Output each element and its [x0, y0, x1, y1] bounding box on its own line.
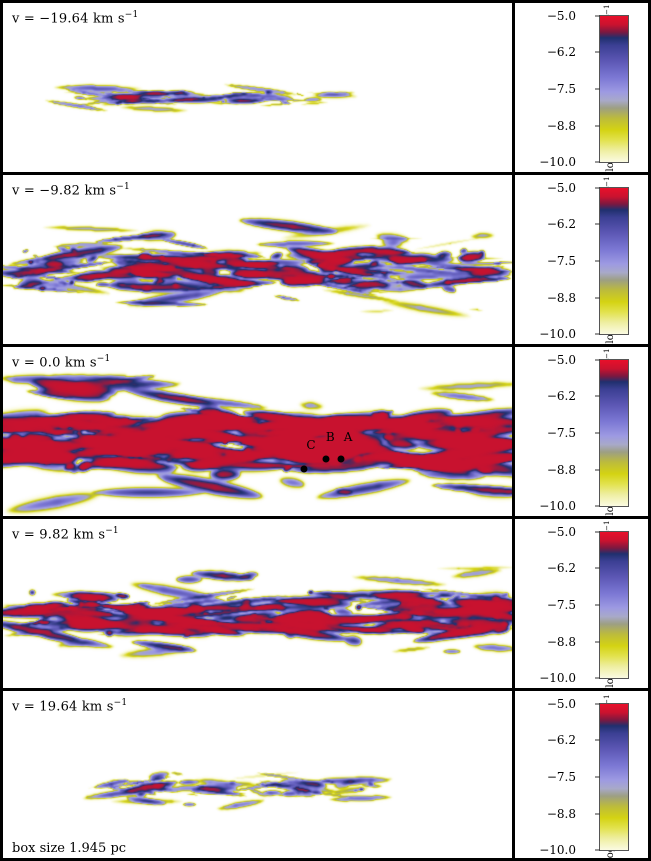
channel-panel-2: v = 0.0 km s−1 C B A log10 I in erg s−1 … — [3, 347, 651, 519]
colorbar-tick-mark — [595, 162, 600, 163]
colorbar-tick-label: −6.2 — [547, 45, 576, 59]
velocity-label-3: v = 9.82 km s−1 — [12, 526, 119, 542]
velocity-label-1: v = −9.82 km s−1 — [12, 182, 130, 198]
colorbar-pane-1: log10 I in erg s−1 cm−2 Hz−1 str−1 −5.0 … — [515, 175, 651, 344]
colorbar-tick-mark — [595, 532, 600, 533]
colorbar-tick-mark — [595, 470, 600, 471]
velocity-label-4: v = 19.64 km s−1 — [12, 698, 127, 714]
colorbar-tick-label: −5.0 — [547, 9, 576, 23]
colorbar-tick-label: −8.8 — [547, 119, 576, 133]
colorbar-tick-mark — [595, 261, 600, 262]
emission-map-0 — [3, 3, 515, 172]
colorbar-tick-label: −7.5 — [547, 426, 576, 440]
colorbar-tick-label: −8.8 — [547, 291, 576, 305]
map-pane-0: v = −19.64 km s−1 — [3, 3, 515, 172]
channel-panel-3: v = 9.82 km s−1 log10 I in erg s−1 cm−2 … — [3, 519, 651, 691]
velocity-label-2: v = 0.0 km s−1 — [12, 354, 110, 370]
colorbar-tick-label: −10.0 — [539, 327, 576, 341]
colorbar-ticks-3: −5.0 −6.2 −7.5 −8.8 −10.0 — [515, 519, 651, 688]
colorbar-pane-3: log10 I in erg s−1 cm−2 Hz−1 str−1 −5.0 … — [515, 519, 651, 688]
colorbar-pane-2: log10 I in erg s−1 cm−2 Hz−1 str−1 −5.0 … — [515, 347, 651, 516]
source-marker-b — [322, 456, 329, 463]
colorbar-tick-label: −5.0 — [547, 525, 576, 539]
colorbar-tick-label: −5.0 — [547, 181, 576, 195]
colorbar-tick-mark — [595, 678, 600, 679]
colorbar-tick-mark — [595, 605, 600, 606]
channel-panel-1: v = −9.82 km s−1 log10 I in erg s−1 cm−2… — [3, 175, 651, 347]
emission-map-2 — [3, 347, 515, 516]
source-label-c: C — [306, 438, 315, 452]
colorbar-tick-mark — [595, 334, 600, 335]
colorbar-tick-mark — [595, 568, 600, 569]
colorbar-ticks-0: −5.0 −6.2 −7.5 −8.8 −10.0 — [515, 3, 651, 172]
colorbar-tick-label: −8.8 — [547, 635, 576, 649]
colorbar-tick-mark — [595, 642, 600, 643]
map-pane-3: v = 9.82 km s−1 — [3, 519, 515, 688]
colorbar-tick-mark — [595, 360, 600, 361]
map-pane-2: v = 0.0 km s−1 C B A — [3, 347, 515, 516]
channel-panel-4: v = 19.64 km s−1 box size 1.945 pc log10… — [3, 691, 651, 861]
channel-map-figure: v = −19.64 km s−1 log10 I in erg s−1 cm−… — [0, 0, 651, 861]
colorbar-tick-label: −8.8 — [547, 807, 576, 821]
colorbar-tick-label: −7.5 — [547, 770, 576, 784]
colorbar-tick-mark — [595, 224, 600, 225]
colorbar-tick-label: −6.2 — [547, 217, 576, 231]
colorbar-tick-label: −10.0 — [539, 155, 576, 169]
colorbar-tick-mark — [595, 89, 600, 90]
colorbar-tick-label: −7.5 — [547, 598, 576, 612]
colorbar-tick-label: −10.0 — [539, 843, 576, 857]
colorbar-tick-label: −8.8 — [547, 463, 576, 477]
emission-map-3 — [3, 519, 515, 688]
map-pane-4: v = 19.64 km s−1 box size 1.945 pc — [3, 691, 515, 861]
colorbar-tick-label: −6.2 — [547, 561, 576, 575]
colorbar-tick-label: −6.2 — [547, 389, 576, 403]
colorbar-tick-mark — [595, 52, 600, 53]
source-marker-c — [301, 465, 308, 472]
velocity-label-0: v = −19.64 km s−1 — [12, 10, 138, 26]
colorbar-tick-mark — [595, 814, 600, 815]
colorbar-tick-mark — [595, 704, 600, 705]
colorbar-tick-mark — [595, 298, 600, 299]
colorbar-tick-label: −10.0 — [539, 499, 576, 513]
colorbar-tick-label: −7.5 — [547, 82, 576, 96]
colorbar-pane-4: log10 I in erg s−1 cm−2 Hz−1 str−1 −5.0 … — [515, 691, 651, 861]
colorbar-ticks-2: −5.0 −6.2 −7.5 −8.8 −10.0 — [515, 347, 651, 516]
colorbar-tick-label: −7.5 — [547, 254, 576, 268]
colorbar-pane-0: log10 I in erg s−1 cm−2 Hz−1 str−1 −5.0 … — [515, 3, 651, 172]
colorbar-tick-label: −5.0 — [547, 697, 576, 711]
colorbar-tick-mark — [595, 740, 600, 741]
colorbar-tick-mark — [595, 850, 600, 851]
colorbar-tick-mark — [595, 433, 600, 434]
colorbar-tick-mark — [595, 126, 600, 127]
colorbar-tick-mark — [595, 506, 600, 507]
emission-map-4 — [3, 691, 515, 861]
source-marker-a — [337, 456, 344, 463]
colorbar-tick-label: −6.2 — [547, 733, 576, 747]
colorbar-tick-label: −5.0 — [547, 353, 576, 367]
colorbar-tick-mark — [595, 16, 600, 17]
colorbar-tick-mark — [595, 188, 600, 189]
colorbar-ticks-4: −5.0 −6.2 −7.5 −8.8 −10.0 — [515, 691, 651, 861]
source-label-a: A — [344, 430, 353, 444]
channel-panel-0: v = −19.64 km s−1 log10 I in erg s−1 cm−… — [3, 3, 651, 175]
source-label-b: B — [326, 430, 335, 444]
box-size-label: box size 1.945 pc — [12, 841, 126, 856]
emission-map-1 — [3, 175, 515, 344]
map-pane-1: v = −9.82 km s−1 — [3, 175, 515, 344]
colorbar-ticks-1: −5.0 −6.2 −7.5 −8.8 −10.0 — [515, 175, 651, 344]
colorbar-tick-mark — [595, 396, 600, 397]
colorbar-tick-mark — [595, 777, 600, 778]
colorbar-tick-label: −10.0 — [539, 671, 576, 685]
